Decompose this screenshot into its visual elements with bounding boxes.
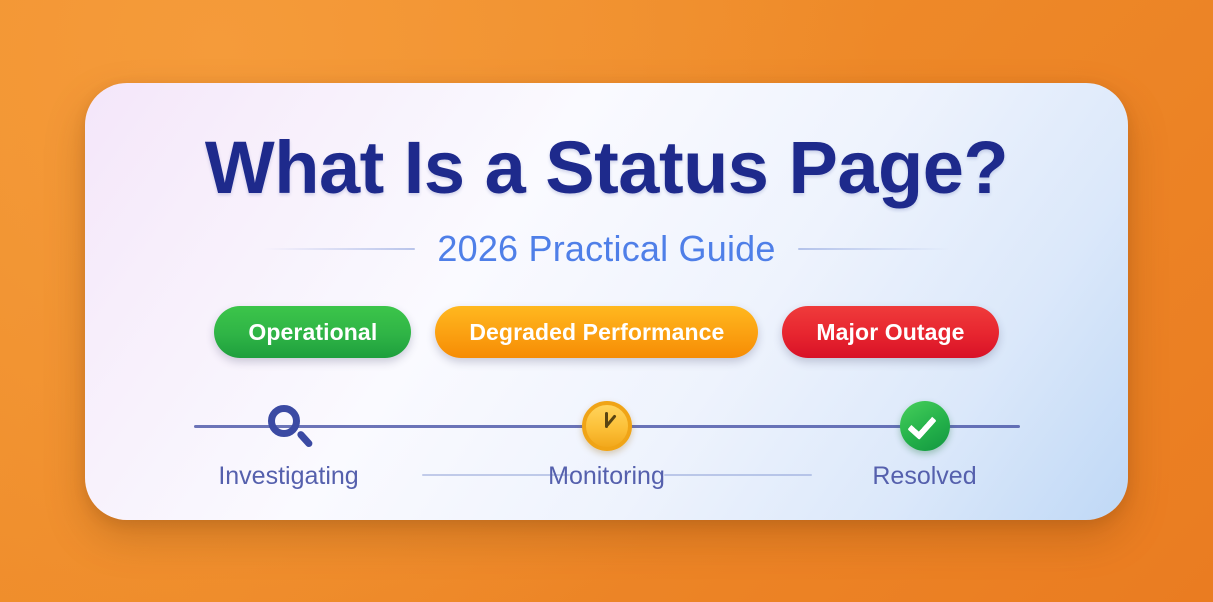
page-title: What Is a Status Page? <box>205 129 1008 207</box>
incident-timeline: Investigating Monitoring Resolved <box>194 392 1020 502</box>
timeline-step-resolved[interactable]: Resolved <box>830 392 1020 491</box>
subtitle-row: 2026 Practical Guide <box>85 228 1128 270</box>
status-badge-major-outage[interactable]: Major Outage <box>782 306 998 358</box>
timeline-step-investigating[interactable]: Investigating <box>194 392 384 491</box>
magnifying-glass-icon <box>259 396 319 456</box>
subtitle-rule-right <box>798 248 950 250</box>
timeline-nodes: Investigating Monitoring Resolved <box>194 392 1020 491</box>
status-badge-operational[interactable]: Operational <box>214 306 411 358</box>
timeline-step-label-monitoring: Monitoring <box>548 462 665 491</box>
subtitle-rule-left <box>263 248 415 250</box>
timeline-step-monitoring[interactable]: Monitoring <box>512 392 702 491</box>
status-pill-group: Operational Degraded Performance Major O… <box>214 306 998 358</box>
status-badge-degraded-performance[interactable]: Degraded Performance <box>435 306 758 358</box>
page-subtitle: 2026 Practical Guide <box>437 228 775 270</box>
clock-icon <box>577 396 637 456</box>
timeline-step-label-resolved: Resolved <box>872 462 976 491</box>
status-page-card: What Is a Status Page? 2026 Practical Gu… <box>85 83 1128 520</box>
timeline-step-label-investigating: Investigating <box>218 462 358 491</box>
check-circle-icon <box>895 396 955 456</box>
